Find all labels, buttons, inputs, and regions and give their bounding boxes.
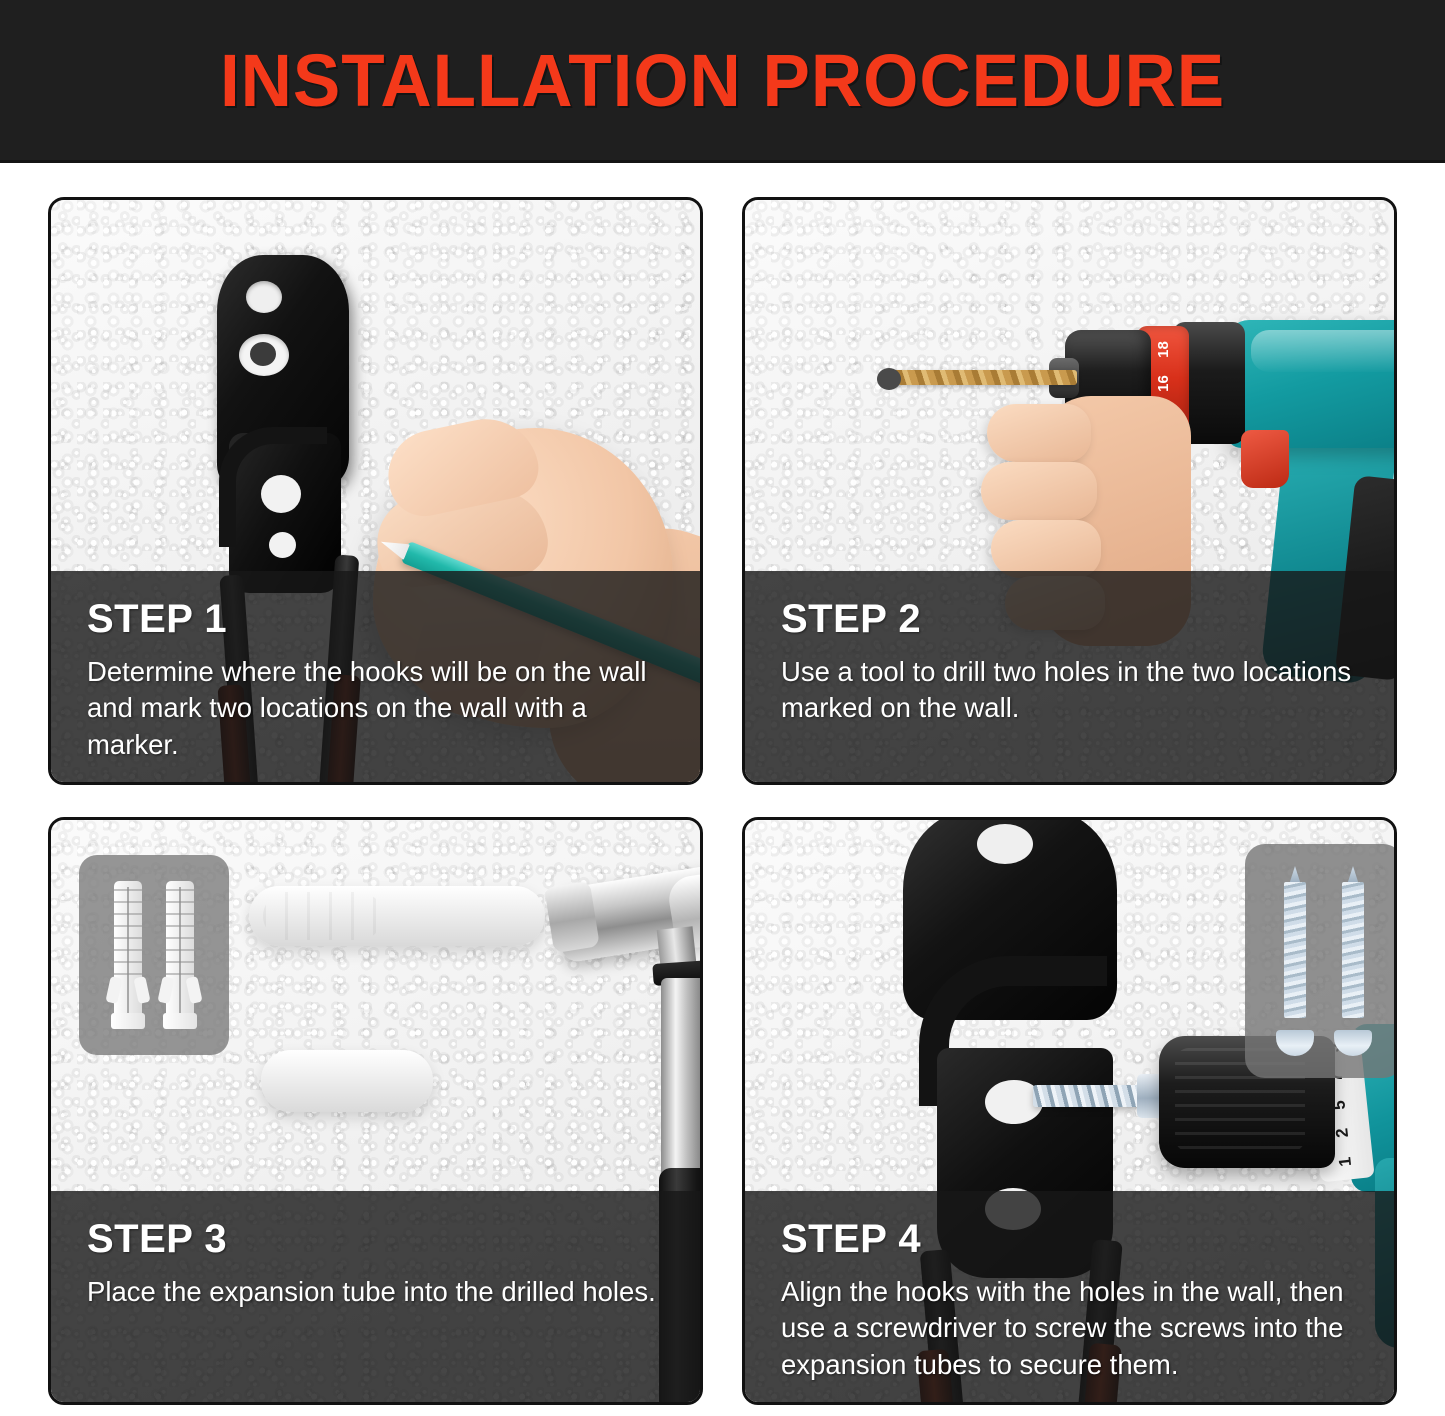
step-description: Determine where the hooks will be on the… (87, 654, 666, 763)
screw-shaft (1342, 882, 1364, 1018)
header-band: INSTALLATION PROCEDURE (0, 0, 1445, 163)
step-label: STEP 2 (781, 597, 1360, 642)
bracket-hole-mid (261, 475, 301, 513)
screw-icon (1337, 866, 1369, 1056)
anchor-collar (111, 1013, 145, 1029)
finger-middle (981, 462, 1097, 520)
expansion-tube-short (261, 1050, 433, 1112)
screw-shaft (1284, 882, 1306, 1018)
bracket-hole-bottom (269, 532, 296, 558)
drill-body-highlight (1251, 330, 1397, 372)
steps-grid: STEP 1 Determine where the hooks will be… (0, 163, 1445, 1416)
page-title: INSTALLATION PROCEDURE (220, 38, 1225, 123)
screw-icon (1279, 866, 1311, 1056)
bracket-hole-top (246, 281, 282, 313)
drill-trigger (1241, 430, 1289, 488)
drill-bit (893, 370, 1077, 385)
anchor-split (179, 887, 181, 1015)
screw-head (1334, 1030, 1372, 1056)
step-caption-4: STEP 4 Align the hooks with the holes in… (745, 1191, 1394, 1402)
clutch-number: 1 (1335, 1156, 1356, 1168)
step-label: STEP 4 (781, 1217, 1360, 1262)
step-label: STEP 3 (87, 1217, 666, 1262)
bracket-hole-top (977, 824, 1033, 864)
anchor-split (127, 887, 129, 1015)
step-label: STEP 1 (87, 597, 666, 642)
wall-anchor-inset-badge (79, 855, 229, 1055)
anchor-collar (163, 1013, 197, 1029)
step-card-1: STEP 1 Determine where the hooks will be… (48, 197, 703, 785)
wall-anchor-icon (162, 881, 198, 1029)
step-card-4: 9 7 5 2 1 (742, 817, 1397, 1405)
expansion-tube-long (249, 886, 545, 946)
screw-being-driven (1033, 1085, 1143, 1107)
step-card-3: STEP 3 Place the expansion tube into the… (48, 817, 703, 1405)
drill-bit-tip (877, 368, 901, 390)
clutch-number: 2 (1333, 1127, 1354, 1139)
step-caption-2: STEP 2 Use a tool to drill two holes in … (745, 571, 1394, 782)
expansion-tube-ribs (263, 892, 383, 940)
wall-anchor-icon (110, 881, 146, 1029)
screw-head (1276, 1030, 1314, 1056)
screws-inset-badge (1245, 844, 1397, 1078)
clutch-number: 18 (1155, 341, 1172, 358)
step-card-2: 18 16 14 STEP 2 Use a tool to drill tw (742, 197, 1397, 785)
step-caption-1: STEP 1 Determine where the hooks will be… (51, 571, 700, 782)
step-description: Place the expansion tube into the drille… (87, 1274, 666, 1310)
hammer-shaft (661, 978, 703, 1178)
finger-index (987, 404, 1091, 462)
pencil-mark-dot (250, 342, 276, 366)
step-description: Use a tool to drill two holes in the two… (781, 654, 1360, 727)
step-description: Align the hooks with the holes in the wa… (781, 1274, 1360, 1383)
finger-ring (991, 520, 1101, 578)
step-caption-3: STEP 3 Place the expansion tube into the… (51, 1191, 700, 1402)
